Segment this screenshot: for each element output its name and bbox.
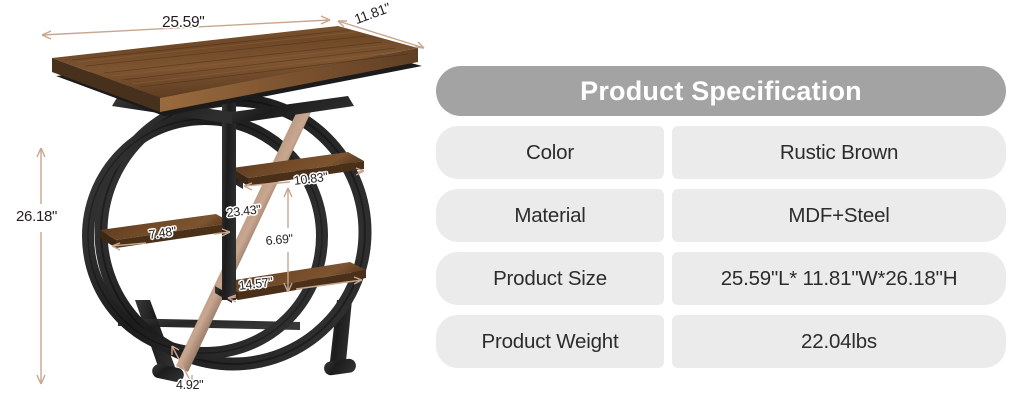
table-row: Material MDF+Steel xyxy=(436,189,1006,242)
table-row: Product Size 25.59"L* 11.81"W*26.18"H xyxy=(436,252,1006,305)
dimension-label-shelf-clearance: 6.69" xyxy=(265,232,293,248)
spec-value-material: MDF+Steel xyxy=(672,189,1006,242)
spec-label-material: Material xyxy=(436,189,664,242)
spec-label-product-weight: Product Weight xyxy=(436,315,664,368)
spec-label-product-size: Product Size xyxy=(436,252,664,305)
table-row: Product Weight 22.04lbs xyxy=(436,315,1006,368)
dimension-label-foot-length: 4.92" xyxy=(176,378,203,392)
spec-table-title: Product Specification xyxy=(436,66,1006,116)
product-specification-table: Product Specification Color Rustic Brown… xyxy=(436,66,1006,368)
center-post xyxy=(222,100,236,300)
table-row: Color Rustic Brown xyxy=(436,126,1006,179)
dimension-label-height: 26.18" xyxy=(16,208,57,225)
spec-value-product-weight: 22.04lbs xyxy=(672,315,1006,368)
spec-label-color: Color xyxy=(436,126,664,179)
dimension-label-width: 25.59" xyxy=(162,14,205,32)
table-drawing xyxy=(0,0,430,420)
product-illustration: 25.59" 11.81" 26.18" 10.83" 23.43" 7.48"… xyxy=(0,0,430,420)
spec-value-color: Rustic Brown xyxy=(672,126,1006,179)
spec-value-product-size: 25.59"L* 11.81"W*26.18"H xyxy=(672,252,1006,305)
